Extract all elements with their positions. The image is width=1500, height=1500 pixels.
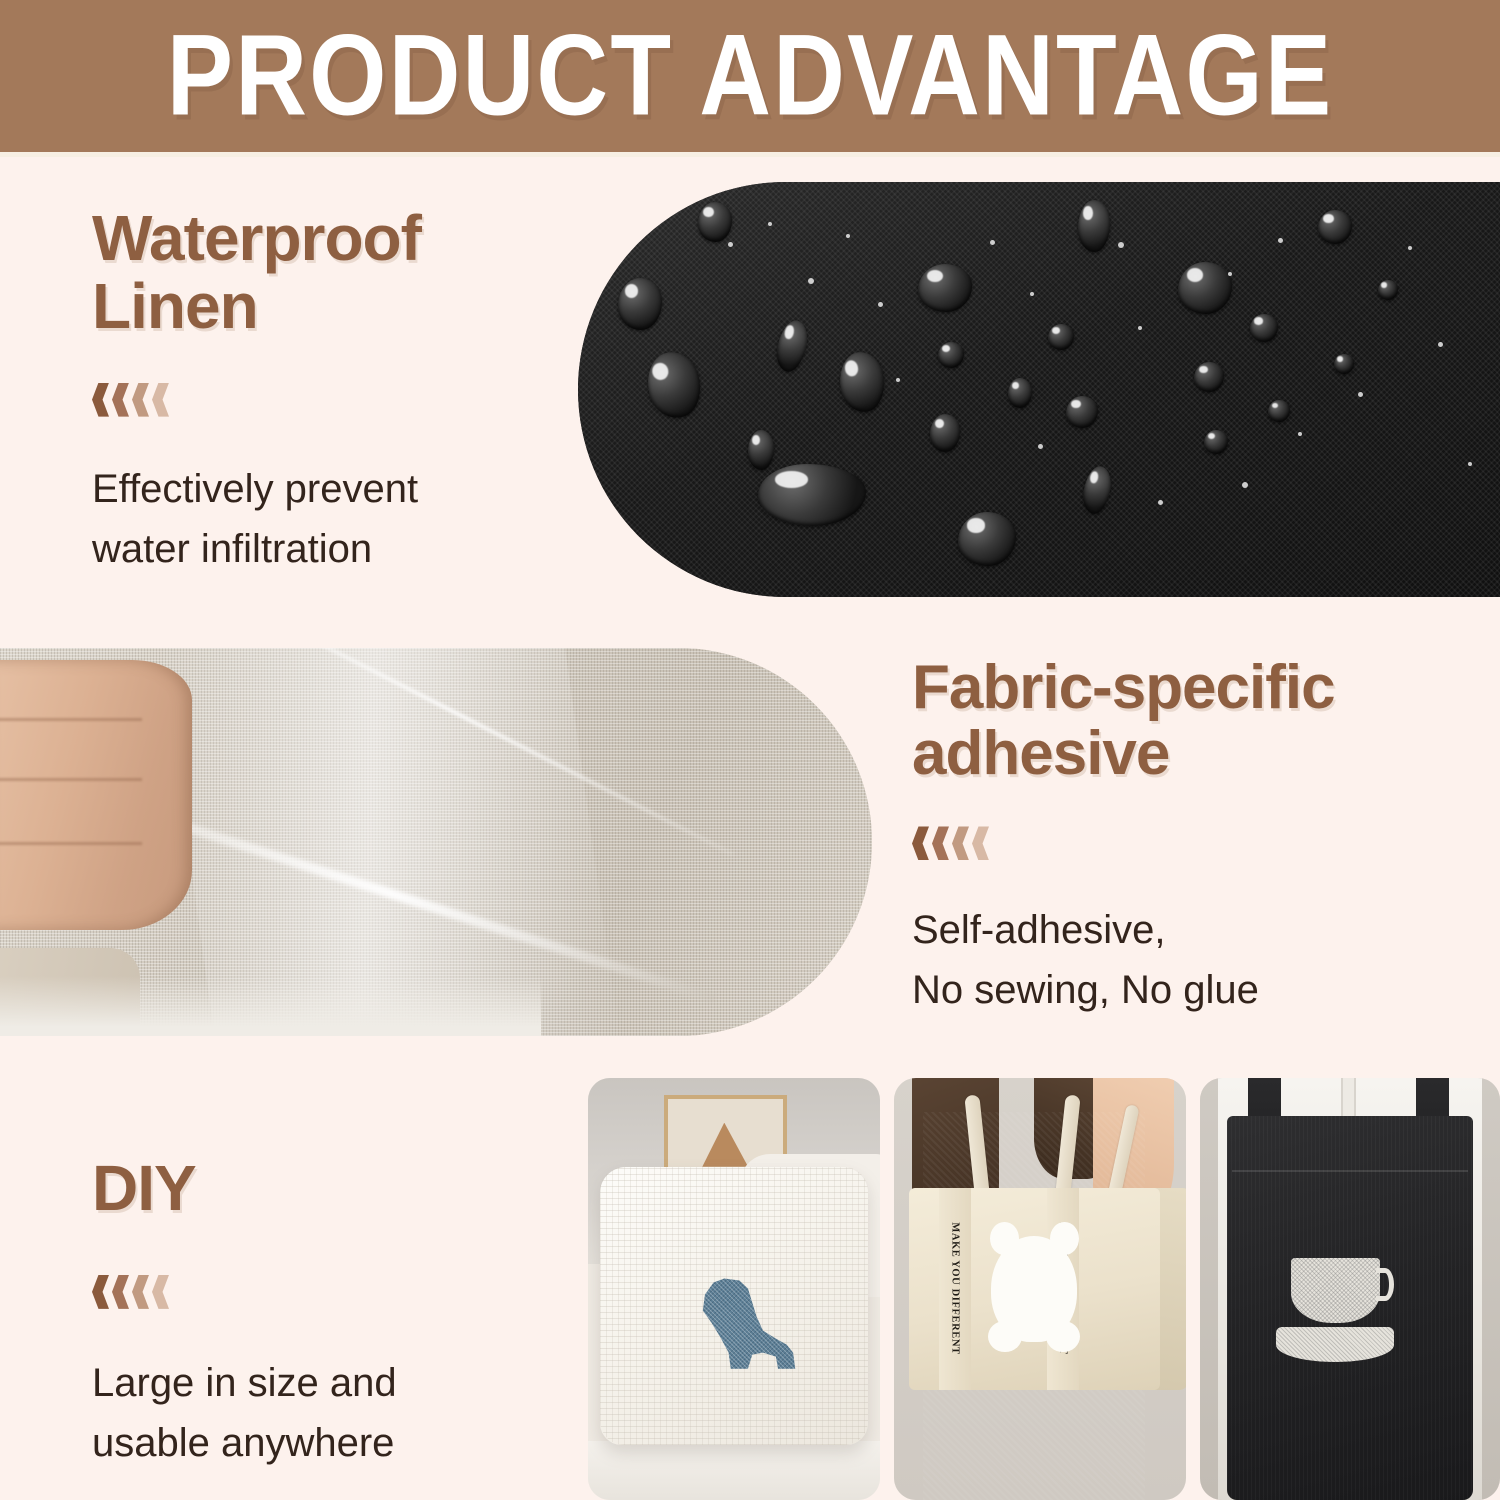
dog-silhouette-patch	[696, 1272, 803, 1372]
floor	[588, 1441, 880, 1500]
section-diy-heading: DIY	[92, 1155, 562, 1223]
fabric-bottom-edge	[0, 976, 541, 1036]
page-title: PRODUCT ADVANTAGE	[167, 10, 1333, 141]
bear-silhouette-patch	[991, 1236, 1076, 1341]
strap-label-left: MAKE YOU DIFFERENT	[950, 1223, 961, 1355]
section-adhesive-body: Self-adhesive, No sewing, No glue	[912, 900, 1482, 1020]
waterproof-fabric-droplets-photo	[578, 182, 1500, 597]
black-apron-body	[1227, 1116, 1473, 1500]
linen-fabric-hand-photo	[0, 648, 872, 1036]
section-adhesive-heading: Fabric-specific adhesive	[912, 655, 1482, 786]
apron-with-coffee-cup-patch-photo	[1200, 1078, 1500, 1500]
double-chevron-left-icon	[912, 826, 1482, 860]
saucer-patch	[1276, 1327, 1394, 1362]
header-divider	[0, 152, 1500, 157]
double-chevron-left-icon	[92, 383, 562, 417]
tote-bag-body: MAKE YOU DIFFERENT MAKE YOU DIFFERENT	[909, 1188, 1160, 1391]
double-chevron-left-icon	[92, 1275, 562, 1309]
header-bar: PRODUCT ADVANTAGE	[0, 0, 1500, 152]
tote-bag-with-bear-patch-photo: MAKE YOU DIFFERENT MAKE YOU DIFFERENT	[894, 1078, 1186, 1500]
section-adhesive-text: Fabric-specific adhesive Self-adhesive, …	[912, 655, 1482, 1020]
fabric-weave-texture	[578, 182, 1500, 597]
section-diy-body: Large in size and usable anywhere	[92, 1353, 562, 1473]
section-waterproof-text: Waterproof Linen Effectively prevent wat…	[92, 205, 562, 579]
section-waterproof-body: Effectively prevent water infiltration	[92, 459, 562, 579]
apron-seam	[1232, 1170, 1468, 1172]
section-diy-text: DIY Large in size and usable anywhere	[92, 1155, 562, 1473]
white-pillow	[600, 1167, 869, 1446]
section-waterproof-heading: Waterproof Linen	[92, 205, 562, 341]
coffee-cup-patch	[1291, 1258, 1380, 1323]
cup-handle	[1376, 1268, 1394, 1301]
hand-holding-fabric	[0, 660, 192, 930]
bag-strap-text-left: MAKE YOU DIFFERENT	[939, 1188, 972, 1391]
pillow-with-dog-patch-photo	[588, 1078, 880, 1500]
